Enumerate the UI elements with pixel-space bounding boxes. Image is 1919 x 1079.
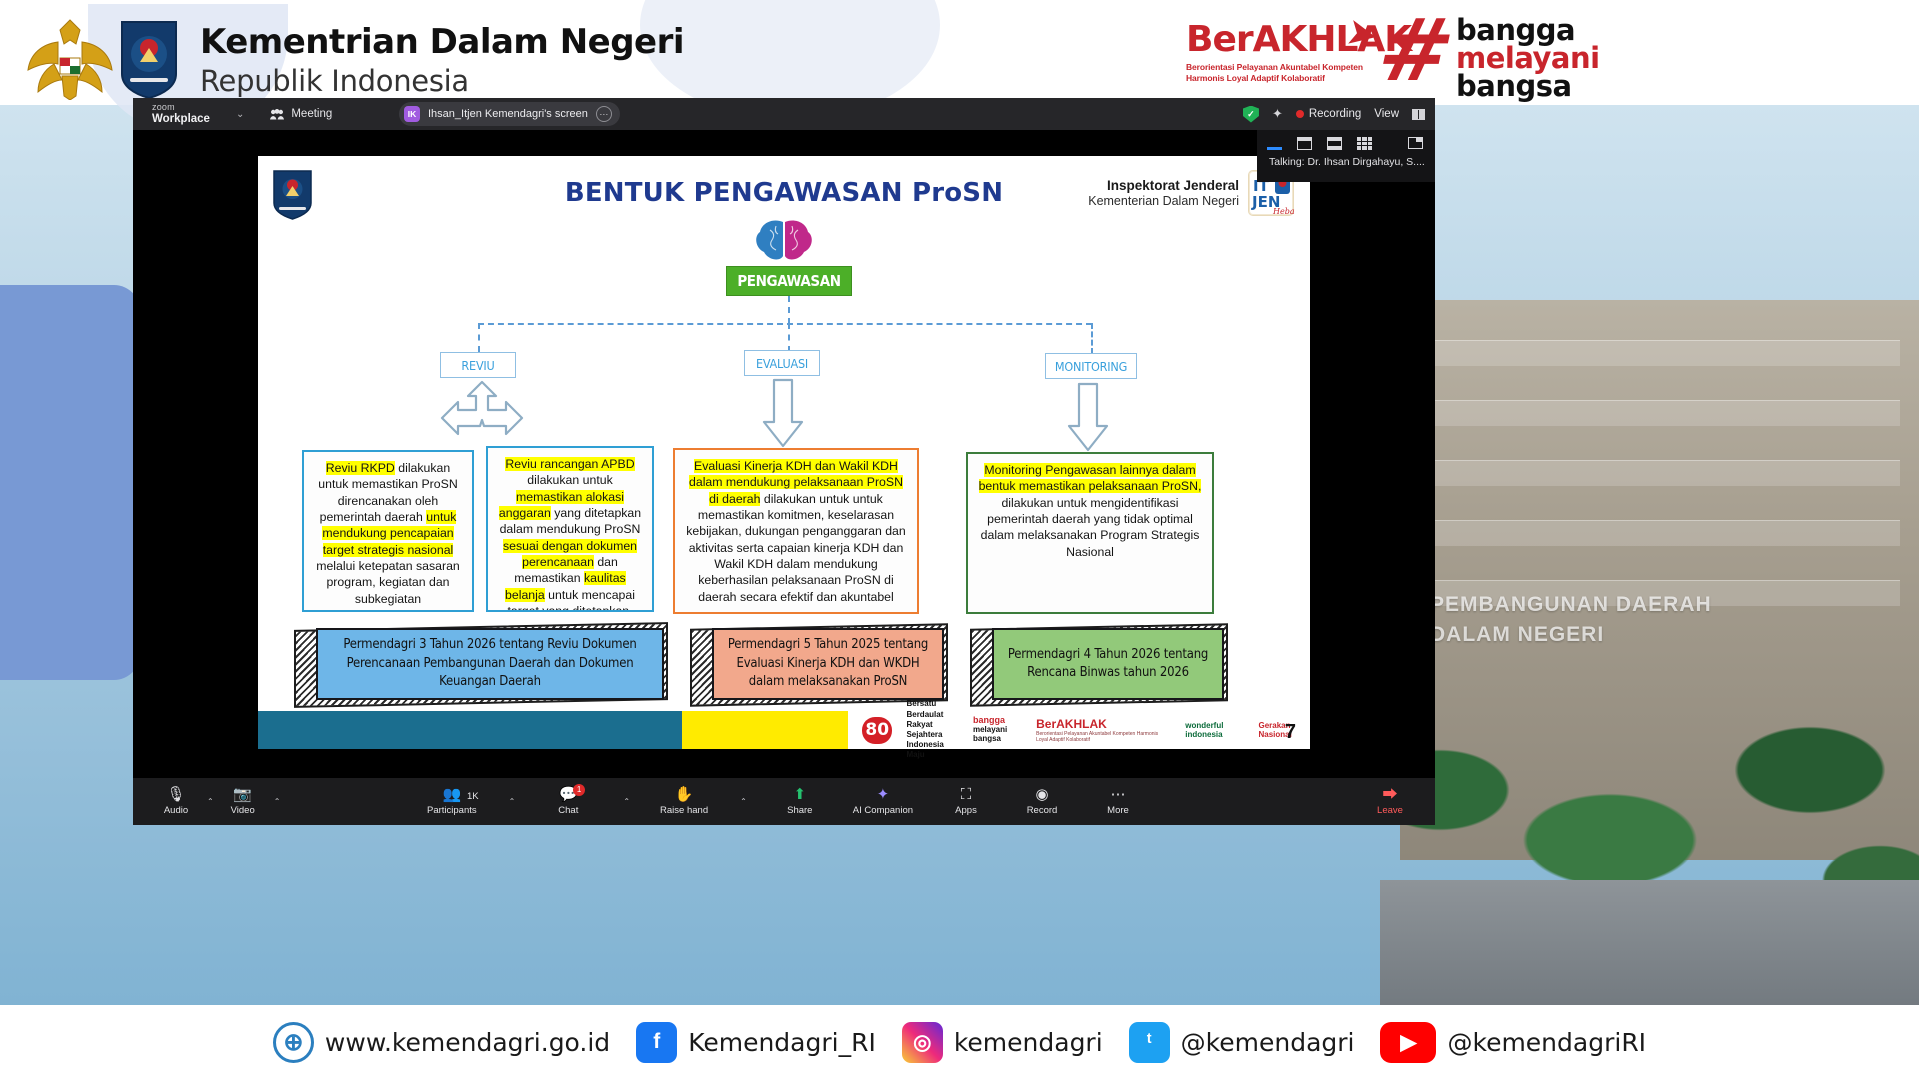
video-chevron-up-icon[interactable]: ⌃ [274,797,281,806]
split-arrow-icon [426,380,538,452]
screen-share-label: Ihsan_Itjen Kemendagri's screen [428,108,588,120]
more-icon: ⋯ [1111,787,1126,802]
share-screen-icon: ⬆ [794,787,807,802]
footer-teal-block [258,711,682,749]
building-caption: PEMBANGUNAN DAERAH DALAM NEGERI [1430,590,1900,651]
raise-hand-label: Raise hand [660,805,708,816]
regulation-banner-wrap: Permendagri 5 Tahun 2025 tentang Evaluas… [690,626,948,704]
talking-indicator-label: Talking: Dr. Ihsan Dirgahayu, S.... [1257,150,1435,168]
itjen-text: Inspektorat Jenderal Kementerian Dalam N… [1088,178,1239,208]
social-item-twitter[interactable]: ᵗ @kemendagri [1129,1022,1355,1063]
footer-berakhlak-logo: BerAKHLAK Berorientasi Pelayanan Akuntab… [1036,717,1171,743]
leave-icon: ⮕ [1382,787,1397,802]
footer-logos: 80 Bersatu Berdaulat Rakyat Sejahtera In… [848,711,1310,749]
connector-root-vertical [788,296,790,324]
more-button[interactable]: ⋯ More [1095,787,1141,816]
building-caption-line2: DALAM NEGERI [1430,620,1900,650]
social-item-facebook[interactable]: f Kemendagri_RI [636,1022,876,1063]
slide-footer: 80 Bersatu Berdaulat Rakyat Sejahtera In… [258,711,1310,749]
anniversary-80-icon: 80 [862,717,892,744]
ai-sparkle-icon[interactable]: ✦ [1272,106,1283,122]
footer-bangga-sub: melayani bangsa [973,726,1022,744]
building-window-band [1420,400,1900,426]
regulation-banner-wrap: Permendagri 4 Tahun 2026 tentang Rencana… [970,626,1228,704]
ministry-title: Kementrian Dalam Negeri [200,22,684,62]
bangga-line3: bangsa [1456,72,1600,100]
zoom-layout-panel: Talking: Dr. Ihsan Dirgahayu, S.... [1257,130,1435,182]
regulation-banner-permendagri-5-2025: Permendagri 5 Tahun 2025 tentang Evaluas… [712,628,944,700]
bangga-line1: bangga [1456,16,1600,44]
globe-icon: ⊕ [273,1022,314,1063]
leave-label: Leave [1377,805,1403,816]
social-twitter-text: @kemendagri [1181,1028,1355,1057]
apps-label: Apps [955,805,977,816]
building-window-band [1420,460,1900,486]
microphone-muted-icon: 🎙 [166,787,185,802]
connector-reviu-vertical [478,323,480,352]
svg-text:Hebat: Hebat [1272,207,1295,216]
layout-buttons-row [1257,130,1435,150]
kemendagri-seal-icon [118,18,180,100]
description-box-reviu-rkpd: Reviu RKPD dilakukan untuk memastikan Pr… [302,450,474,612]
shared-screen-stage: BENTUK PENGAWASAN ProSN Inspektorat Jend… [133,130,1435,778]
facebook-icon: f [636,1022,677,1063]
garuda-emblem-icon [24,14,116,100]
zoom-brand-line2: Workplace [152,113,210,125]
record-icon: ◉ [1035,787,1048,802]
recording-dot-icon [1296,110,1304,118]
category-node-monitoring: MONITORING [1045,353,1137,379]
social-instagram-text: kemendagri [954,1028,1103,1057]
berakhlak-tagline-line1: Berorientasi Pelayanan Akuntabel Kompete… [1186,62,1376,73]
zoom-brand-line1: zoom [152,103,210,112]
brain-icon [750,218,818,262]
building-caption-line1: PEMBANGUNAN DAERAH [1430,590,1900,620]
itjen-line1: Inspektorat Jenderal [1088,178,1239,193]
footer-yellow-block [682,711,848,749]
social-item-youtube[interactable]: ▶ @kemendagriRI [1380,1022,1646,1063]
social-facebook-text: Kemendagri_RI [688,1028,876,1057]
anniversary-line1: Bersatu Berdaulat [906,699,959,719]
more-options-icon[interactable]: ⋯ [596,106,612,122]
zoom-controls-left: 🎙 Audio ⌃ 📷 Video ⌃ [153,787,280,816]
gallery-view-button[interactable] [1357,137,1372,150]
recording-label: Recording [1309,108,1361,120]
building-window-band [1420,520,1900,546]
description-box-evaluasi-kinerja: Evaluasi Kinerja KDH dan Wakil KDH dalam… [673,448,919,614]
anniversary-tagline: Bersatu Berdaulat Rakyat Sejahtera Indon… [906,699,959,760]
ai-companion-button[interactable]: ✦ AI Companion [853,787,913,816]
raise-hand-button[interactable]: ✋ Raise hand [660,787,708,816]
record-button[interactable]: ◉ Record [1019,787,1065,816]
participants-count: 1K [467,791,479,802]
record-label: Record [1027,805,1058,816]
social-youtube-text: @kemendagriRI [1447,1028,1646,1057]
connector-monitoring-vertical [1091,323,1093,354]
audio-button[interactable]: 🎙 Audio [153,787,199,816]
participants-button[interactable]: 👥 1K Participants [427,787,477,816]
instagram-icon: ◎ [902,1022,943,1063]
video-label: Video [231,805,255,816]
connector-evaluasi-vertical [788,323,790,352]
down-arrow-icon [761,378,805,450]
audio-label: Audio [164,805,188,816]
tab-meeting[interactable]: Meeting [270,108,332,120]
social-website-text: www.kemendagri.go.id [325,1028,610,1057]
view-button-label[interactable]: View [1374,108,1399,120]
participants-chevron-up-icon[interactable]: ⌃ [509,797,516,806]
speaker-view-button[interactable] [1297,137,1312,150]
chevron-down-icon[interactable]: ⌄ [236,109,244,120]
ministry-titles: Kementrian Dalam Negeri Republik Indones… [200,22,684,98]
bangga-melayani-bangsa-logo: # bangga melayani bangsa [1380,12,1780,104]
bangga-line2: melayani [1456,44,1600,72]
camera-icon: 📷 [233,787,252,802]
screen-share-badge[interactable]: IK Ihsan_Itjen Kemendagri's screen ⋯ [399,102,620,126]
description-box-reviu-apbd: Reviu rancangan APBD dilakukan untuk mem… [486,446,654,612]
zoom-meeting-window: zoom Workplace ⌄ Meeting IK Ihsan_Itjen … [133,98,1435,825]
chat-chevron-up-icon[interactable]: ⌃ [623,797,630,806]
building-window-band [1420,340,1900,366]
berakhlak-logo: ➤ BerAKHLAK Berorientasi Pelayanan Akunt… [1186,22,1376,85]
description-box-monitoring: Monitoring Pengawasan lainnya dalam bent… [966,452,1214,614]
footer-berakhlak-main: BerAKHLAK [1036,717,1107,731]
berakhlak-tagline: Berorientasi Pelayanan Akuntabel Kompete… [1186,62,1376,85]
tab-meeting-label: Meeting [291,108,332,120]
strip-view-button[interactable] [1327,137,1342,150]
chat-unread-badge: 1 [573,784,585,796]
avatar: IK [404,106,420,122]
footer-wonderful-indonesia-logo: wonderful indonesia [1185,721,1244,739]
slide-page-number: 7 [1285,721,1296,744]
social-item-instagram[interactable]: ◎ kemendagri [902,1022,1103,1063]
regulation-banner-permendagri-4-2026: Permendagri 4 Tahun 2026 tentang Rencana… [992,628,1224,700]
background-blue-shape [0,285,140,680]
ai-sparkle-icon: ✦ [877,787,890,802]
participants-icon: 👥 [442,787,461,802]
berakhlak-tagline-line2: Harmonis Loyal Adaptif Kolaboratif [1186,73,1376,84]
youtube-icon: ▶ [1380,1022,1436,1063]
twitter-icon: ᵗ [1129,1022,1170,1063]
itjen-line2: Kementerian Dalam Negeri [1088,194,1239,208]
more-label: More [1107,805,1129,816]
regulation-banner-permendagri-3-2026: Permendagri 3 Tahun 2026 tentang Reviu D… [316,628,664,700]
pengawasan-root-node: PENGAWASAN [726,266,852,296]
security-shield-icon[interactable]: ✓ [1243,106,1259,123]
audio-chevron-up-icon[interactable]: ⌃ [207,797,214,806]
video-button[interactable]: 📷 Video [220,787,266,816]
category-node-evaluasi: EVALUASI [744,350,820,376]
leave-meeting-button[interactable]: ⮕ Leave [1367,787,1413,816]
regulation-banner-wrap: Permendagri 3 Tahun 2026 tentang Reviu D… [294,626,668,704]
connector-horizontal [478,323,1092,325]
down-arrow-icon [1066,382,1110,454]
zoom-controls-right: ⮕ Leave [1367,787,1413,816]
social-item-website[interactable]: ⊕ www.kemendagri.go.id [273,1022,610,1063]
zoom-controls-center: 👥 1K Participants ⌃ 1 💬 Chat ⌃ ✋ Raise h… [427,787,1141,816]
ministry-subtitle: Republik Indonesia [200,64,684,98]
presentation-slide: BENTUK PENGAWASAN ProSN Inspektorat Jend… [258,156,1310,749]
background-road [1380,880,1919,1025]
footer-bangga-logo: bangga melayani bangsa [973,716,1022,743]
grid-view-icon[interactable] [1412,109,1425,120]
raise-hand-icon: ✋ [675,787,694,802]
share-screen-button[interactable]: ⬆ Share [777,787,823,816]
share-label: Share [787,805,812,816]
recording-indicator[interactable]: Recording [1296,108,1361,120]
anniversary-line2: Rakyat Sejahtera [906,720,959,740]
zoom-control-bar: 🎙 Audio ⌃ 📷 Video ⌃ 👥 1K Participants ⌃ … [133,778,1435,825]
ai-companion-label: AI Companion [853,805,913,816]
participants-label: Participants [427,805,477,816]
raise-hand-chevron-up-icon[interactable]: ⌃ [740,797,747,806]
minimize-view-button[interactable] [1267,147,1282,150]
category-node-reviu: REVIU [440,352,516,378]
zoom-top-right-group: ✓ ✦ Recording View [1243,98,1425,130]
bangga-wordmark: bangga melayani bangsa [1456,16,1600,100]
footer-berakhlak-sub: Berorientasi Pelayanan Akuntabel Kompete… [1036,731,1171,743]
chat-button[interactable]: 1 💬 Chat [545,787,591,816]
apps-icon: ⛶ [961,787,972,802]
popout-view-button[interactable] [1408,137,1423,149]
chat-label: Chat [558,805,578,816]
hashtag-icon: # [1373,16,1460,87]
apps-button[interactable]: ⛶ Apps [943,787,989,816]
people-icon [270,109,284,120]
zoom-workplace-brand[interactable]: zoom Workplace [152,103,210,125]
page-header: Kementrian Dalam Negeri Republik Indones… [0,0,1919,104]
footer-bangga-main: bangga [973,715,1005,725]
zoom-top-bar: zoom Workplace ⌄ Meeting IK Ihsan_Itjen … [133,98,1435,130]
social-media-bar: ⊕ www.kemendagri.go.id f Kemendagri_RI ◎… [0,1005,1919,1079]
anniversary-line3: Indonesia Maju [906,740,959,760]
